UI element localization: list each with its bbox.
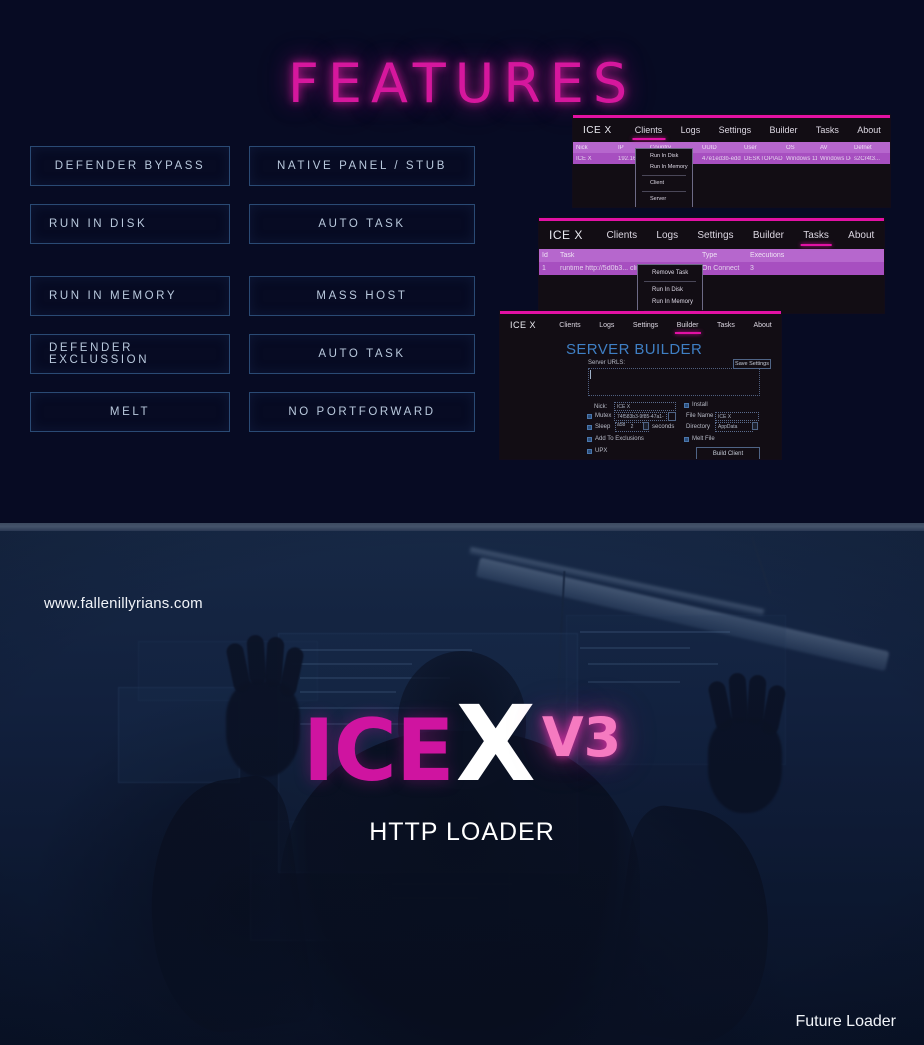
logo-text-ice: ICE <box>303 701 454 801</box>
table-row[interactable]: ICE X 192.168... Country 47e1ed3b-edd3..… <box>573 153 890 164</box>
directory-stepper[interactable] <box>752 422 758 430</box>
clients-panel-screenshot: ICE X Clients Logs Settings Builder Task… <box>573 115 890 207</box>
column-os: OS <box>783 145 817 151</box>
website-url: www.fallenillyrians.com <box>44 595 203 612</box>
context-item-client[interactable]: Client <box>636 178 692 189</box>
column-task: Task <box>557 252 699 259</box>
tasks-table-header: Id Task Type Executions <box>539 249 884 262</box>
cell-user: DESKTOP\ADM... <box>741 156 783 162</box>
tab-about[interactable]: About <box>753 322 771 329</box>
context-item-server[interactable]: Server <box>636 194 692 205</box>
build-client-button[interactable]: Build Client <box>696 447 760 459</box>
sleep-checkbox[interactable] <box>587 425 592 430</box>
server-urls-textarea[interactable] <box>588 368 760 396</box>
cell-id: 1 <box>539 265 557 272</box>
tab-builder[interactable]: Builder <box>753 230 784 241</box>
cell-executions: 3 <box>747 265 807 272</box>
column-nick: Nick <box>573 145 615 151</box>
column-executions: Executions <box>747 252 807 259</box>
context-item-msgbox[interactable]: MsgBox <box>636 205 692 207</box>
panel-tab-list: Clients Logs Settings Builder Tasks Abou… <box>583 230 884 241</box>
column-user: User <box>741 145 783 151</box>
panel-screenshots: ICE X Clients Logs Settings Builder Task… <box>0 0 924 523</box>
tab-about[interactable]: About <box>848 230 874 241</box>
install-label: Install <box>692 402 708 408</box>
panel-brand-label: ICE X <box>510 320 536 330</box>
column-type: Type <box>699 252 747 259</box>
text-caret <box>590 370 591 379</box>
file-name-label: File Name <box>686 413 713 419</box>
server-urls-label: Server URLS: <box>588 360 625 366</box>
tab-clients[interactable]: Clients <box>635 125 663 135</box>
clients-context-menu: Run In Disk Run In Memory Client Server … <box>635 148 693 207</box>
nick-input[interactable]: ICE X <box>614 402 676 411</box>
tab-tasks[interactable]: Tasks <box>816 125 839 135</box>
upx-checkbox[interactable] <box>587 449 592 454</box>
tab-clients[interactable]: Clients <box>607 230 638 241</box>
panel-menu-bar: ICE X Clients Logs Settings Builder Task… <box>573 118 890 142</box>
panel-brand-label: ICE X <box>583 125 612 136</box>
directory-label: Directory <box>686 424 710 430</box>
context-separator <box>642 175 686 176</box>
panel-tab-list: Clients Logs Settings Builder Tasks Abou… <box>536 322 781 329</box>
sleep-stepper[interactable] <box>643 422 649 430</box>
file-name-input[interactable]: ICE X <box>715 412 759 421</box>
watermark-future-loader: Future Loader <box>795 1013 896 1031</box>
tab-settings[interactable]: Settings <box>697 230 733 241</box>
cell-os: Windows 11 x64 <box>783 156 817 162</box>
tab-settings[interactable]: Settings <box>719 125 752 135</box>
builder-heading: SERVER BUILDER <box>566 341 702 358</box>
context-item-run-in-memory[interactable]: Run In Memory <box>638 296 702 308</box>
cell-uuid: 47e1ed3b-edd3... <box>699 156 741 162</box>
poster-root: FEATURES DEFENDER BYPASS NATIVE PANEL / … <box>0 0 924 1045</box>
features-section: FEATURES DEFENDER BYPASS NATIVE PANEL / … <box>0 0 924 523</box>
cell-defnet: s2Cr4t3... <box>851 156 890 162</box>
context-separator <box>642 191 686 192</box>
panel-menu-bar: ICE X Clients Logs Settings Builder Task… <box>500 314 781 336</box>
panel-brand-label: ICE X <box>549 228 583 242</box>
melt-file-label: Melt File <box>692 436 715 442</box>
context-item-run-in-disk[interactable]: Run In Disk <box>638 284 702 296</box>
panel-tab-list: Clients Logs Settings Builder Tasks Abou… <box>612 125 890 135</box>
sleep-label: Sleep <box>595 424 610 430</box>
mutex-checkbox[interactable] <box>587 414 592 419</box>
column-av: AV <box>817 145 851 151</box>
column-id: Id <box>539 252 557 259</box>
builder-panel-screenshot: ICE X Clients Logs Settings Builder Task… <box>500 311 781 459</box>
clients-table-header: Nick IP Country UUID User OS AV Defnet <box>573 142 890 153</box>
cell-type: On Connect <box>699 265 747 272</box>
upx-label: UPX <box>595 448 607 454</box>
install-checkbox[interactable] <box>684 403 689 408</box>
cell-av: Windows Defen... <box>817 156 851 162</box>
nick-label: Nick: <box>594 404 607 410</box>
tab-logs[interactable]: Logs <box>681 125 701 135</box>
melt-file-checkbox[interactable] <box>684 437 689 442</box>
logo-subtitle: HTTP LOADER <box>0 818 924 847</box>
panel-menu-bar: ICE X Clients Logs Settings Builder Task… <box>539 221 884 249</box>
tab-builder[interactable]: Builder <box>769 125 797 135</box>
table-row[interactable]: 1 runtime http://5d0b3... client events.… <box>539 262 884 275</box>
hero-section: www.fallenillyrians.com ICE X V3 HTTP LO… <box>0 531 924 1045</box>
save-settings-button[interactable]: Save Settings <box>733 359 771 369</box>
mutex-label: Mutex <box>595 413 611 419</box>
add-to-exclusions-label: Add To Exclusions <box>595 436 644 442</box>
context-item-run-in-memory[interactable]: Run In Memory <box>636 162 692 173</box>
cell-nick: ICE X <box>573 156 615 162</box>
logo-text-x: X <box>456 698 536 792</box>
column-defnet: Defnet <box>851 145 890 151</box>
tab-tasks[interactable]: Tasks <box>803 230 829 241</box>
tab-settings[interactable]: Settings <box>633 322 658 329</box>
context-separator <box>644 281 696 282</box>
tab-about[interactable]: About <box>857 125 881 135</box>
tab-clients[interactable]: Clients <box>559 322 580 329</box>
logo-lockup: ICE X V3 <box>303 698 621 801</box>
tasks-panel-screenshot: ICE X Clients Logs Settings Builder Task… <box>539 218 884 313</box>
tab-builder[interactable]: Builder <box>677 322 699 329</box>
context-item-remove-task[interactable]: Remove Task <box>638 267 702 279</box>
logo-text-v3: V3 <box>542 706 621 769</box>
column-uuid: UUID <box>699 145 741 151</box>
directory-input[interactable]: AppData <box>715 422 753 432</box>
product-logo: ICE X V3 <box>0 698 924 801</box>
tab-logs[interactable]: Logs <box>599 322 614 329</box>
tab-logs[interactable]: Logs <box>656 230 678 241</box>
tab-tasks[interactable]: Tasks <box>717 322 735 329</box>
context-item-run-in-disk[interactable]: Run In Disk <box>636 151 692 162</box>
add-to-exclusions-checkbox[interactable] <box>587 437 592 442</box>
mutex-input[interactable]: 74f583b3-9f85-47a1-a5b <box>614 412 667 421</box>
section-divider <box>0 523 924 531</box>
sleep-suffix-label: seconds <box>652 424 674 430</box>
tasks-context-menu: Remove Task Run In Disk Run In Memory Cl… <box>637 264 703 313</box>
refresh-mutex-icon[interactable] <box>668 412 676 421</box>
